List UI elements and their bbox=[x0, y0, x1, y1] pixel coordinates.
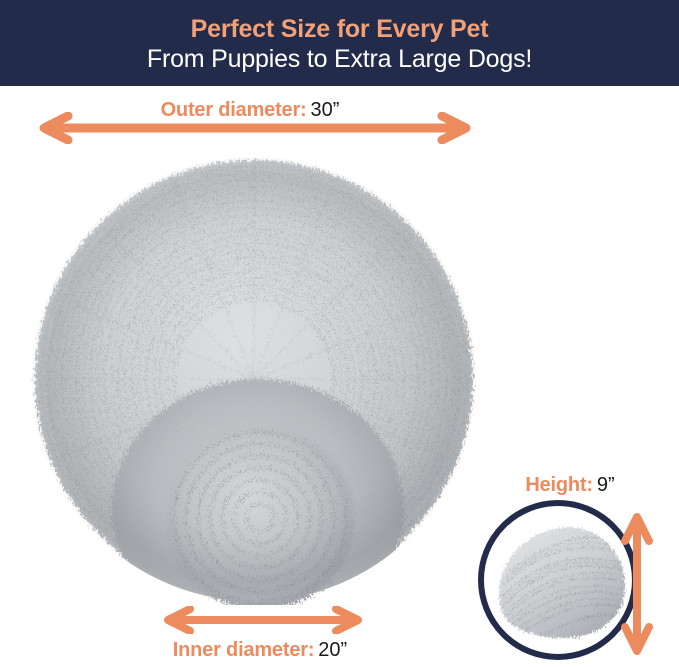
inner-diameter-value: 20” bbox=[318, 639, 347, 661]
height-value: 9” bbox=[597, 474, 615, 496]
inner-diameter-arrow bbox=[152, 606, 374, 634]
inner-diameter-label: Inner diameter:20” bbox=[0, 638, 520, 662]
page-title: Perfect Size for Every Pet bbox=[191, 14, 489, 44]
pet-bed-side-view bbox=[484, 512, 632, 648]
inner-diameter-name: Inner diameter: bbox=[173, 639, 314, 661]
height-name: Height: bbox=[525, 474, 592, 496]
pet-bed-top-view bbox=[28, 153, 480, 605]
header-banner: Perfect Size for Every Pet From Puppies … bbox=[0, 0, 679, 86]
outer-diameter-arrow bbox=[24, 112, 486, 144]
page-subtitle: From Puppies to Extra Large Dogs! bbox=[147, 44, 532, 75]
infographic-page: Perfect Size for Every Pet From Puppies … bbox=[0, 0, 679, 667]
side-view-inset bbox=[478, 500, 638, 660]
height-label: Height:9” bbox=[470, 473, 670, 497]
height-arrow bbox=[620, 505, 654, 663]
